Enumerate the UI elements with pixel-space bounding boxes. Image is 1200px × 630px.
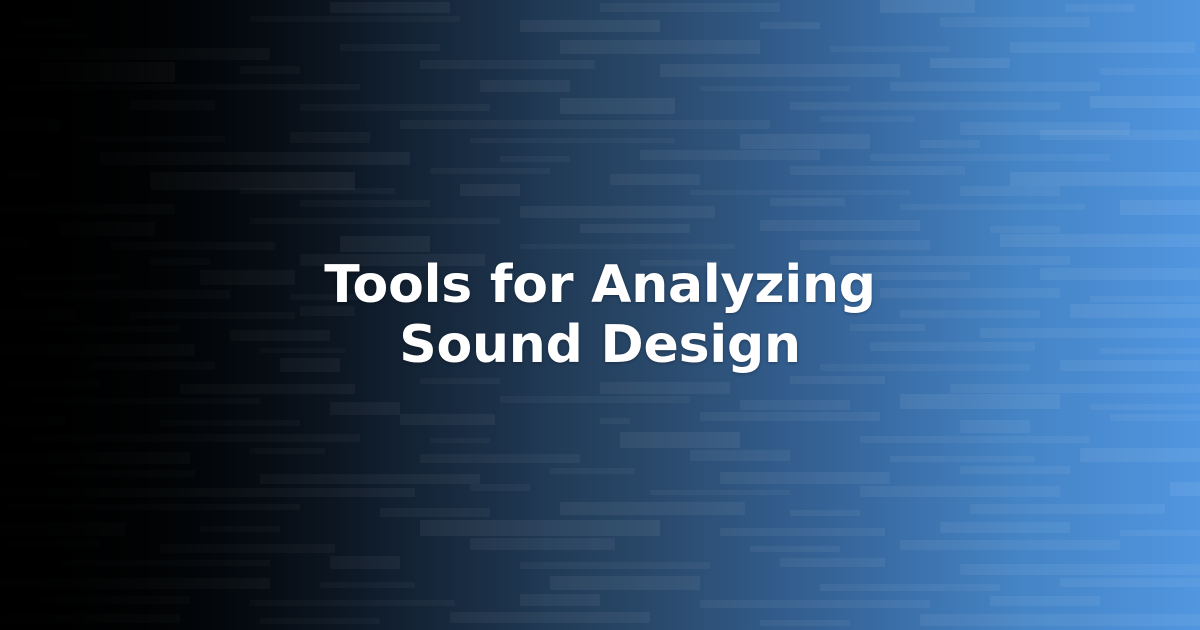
social-share-card: Tools for Analyzing Sound Design	[0, 0, 1200, 630]
title-container: Tools for Analyzing Sound Design	[0, 0, 1200, 630]
page-title: Tools for Analyzing Sound Design	[280, 255, 920, 375]
